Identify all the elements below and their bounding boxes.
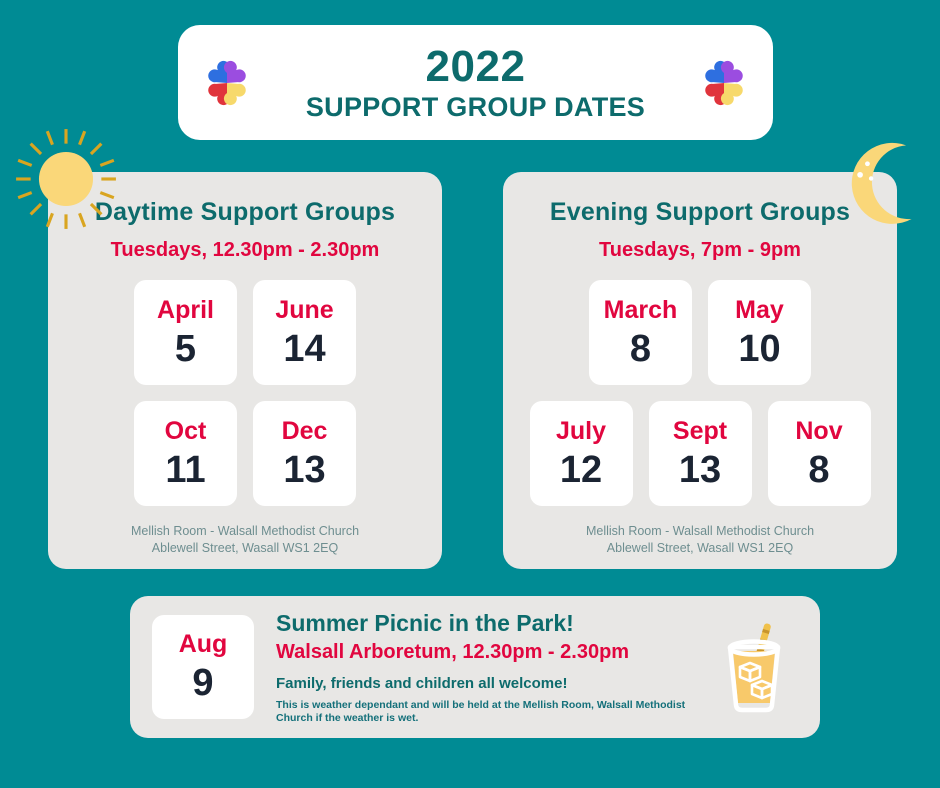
evening-panel-time: Tuesdays, 7pm - 9pm	[503, 239, 897, 262]
date-row: April 5 June 14	[48, 280, 442, 385]
date-tile[interactable]: April 5	[134, 280, 237, 385]
date-tile-month: Sept	[673, 419, 727, 444]
poster-canvas: 2022 SUPPORT GROUP DATES Daytime Support…	[0, 0, 940, 788]
date-tile-day: 13	[283, 451, 325, 489]
poster-subtitle: SUPPORT GROUP DATES	[250, 93, 701, 122]
date-tile[interactable]: March 8	[589, 280, 692, 385]
date-tile-day: 14	[283, 330, 325, 368]
date-tile[interactable]: July 12	[530, 401, 633, 506]
date-tile-month: May	[735, 298, 784, 323]
picnic-weather-note: This is weather dependant and will be he…	[276, 699, 714, 724]
date-tile-day: 8	[808, 451, 829, 489]
daytime-support-panel: Daytime Support Groups Tuesdays, 12.30pm…	[48, 172, 442, 569]
date-tile[interactable]: May 10	[708, 280, 811, 385]
address-line-1: Mellish Room - Walsall Methodist Church	[503, 523, 897, 540]
date-tile-month: April	[157, 298, 214, 323]
evening-support-panel: Evening Support Groups Tuesdays, 7pm - 9…	[503, 172, 897, 569]
date-tile-month: June	[275, 298, 333, 323]
daytime-date-grid: April 5 June 14 Oct 11 Dec 13	[48, 280, 442, 506]
poster-year: 2022	[250, 44, 701, 91]
date-tile-month: Dec	[282, 419, 328, 444]
date-tile[interactable]: Sept 13	[649, 401, 752, 506]
address-line-2: Ablewell Street, Wasall WS1 2EQ	[48, 540, 442, 557]
date-tile-month: July	[556, 419, 606, 444]
daytime-panel-time: Tuesdays, 12.30pm - 2.30pm	[48, 239, 442, 262]
picnic-text-block: Summer Picnic in the Park! Walsall Arbor…	[254, 610, 714, 725]
date-tile[interactable]: Oct 11	[134, 401, 237, 506]
evening-date-grid: March 8 May 10 July 12 Sept 13 Nov	[503, 280, 897, 506]
address-line-1: Mellish Room - Walsall Methodist Church	[48, 523, 442, 540]
date-tile-month: Oct	[165, 419, 207, 444]
date-tile[interactable]: Dec 13	[253, 401, 356, 506]
sun-icon	[14, 127, 118, 231]
juice-glass-icon	[714, 617, 794, 717]
date-tile-day: 5	[175, 330, 196, 368]
date-tile[interactable]: June 14	[253, 280, 356, 385]
date-tile-day: 11	[165, 451, 205, 489]
title-text-block: 2022 SUPPORT GROUP DATES	[250, 44, 701, 121]
picnic-location: Walsall Arboretum, 12.30pm - 2.30pm	[276, 641, 714, 664]
date-tile-day: 13	[679, 451, 721, 489]
date-row: March 8 May 10	[503, 280, 897, 385]
evening-panel-address: Mellish Room - Walsall Methodist Church …	[503, 523, 897, 558]
date-tile-month: Aug	[179, 632, 228, 657]
flower-logo	[701, 60, 747, 106]
address-line-2: Ablewell Street, Wasall WS1 2EQ	[503, 540, 897, 557]
moon-icon	[838, 138, 930, 230]
date-tile-day: 8	[630, 330, 651, 368]
date-tile-month: March	[604, 298, 678, 323]
date-tile-month: Nov	[795, 419, 842, 444]
daytime-panel-address: Mellish Room - Walsall Methodist Church …	[48, 523, 442, 558]
date-row: July 12 Sept 13 Nov 8	[503, 401, 897, 506]
date-tile-day: 9	[192, 664, 213, 702]
picnic-title: Summer Picnic in the Park!	[276, 610, 714, 636]
picnic-date-tile[interactable]: Aug 9	[152, 615, 254, 719]
picnic-welcome: Family, friends and children all welcome…	[276, 675, 714, 692]
date-tile-day: 12	[560, 451, 602, 489]
title-banner: 2022 SUPPORT GROUP DATES	[178, 25, 773, 140]
flower-logo	[204, 60, 250, 106]
summer-picnic-card: Aug 9 Summer Picnic in the Park! Walsall…	[130, 596, 820, 738]
date-tile-day: 10	[738, 330, 780, 368]
date-tile[interactable]: Nov 8	[768, 401, 871, 506]
date-row: Oct 11 Dec 13	[48, 401, 442, 506]
